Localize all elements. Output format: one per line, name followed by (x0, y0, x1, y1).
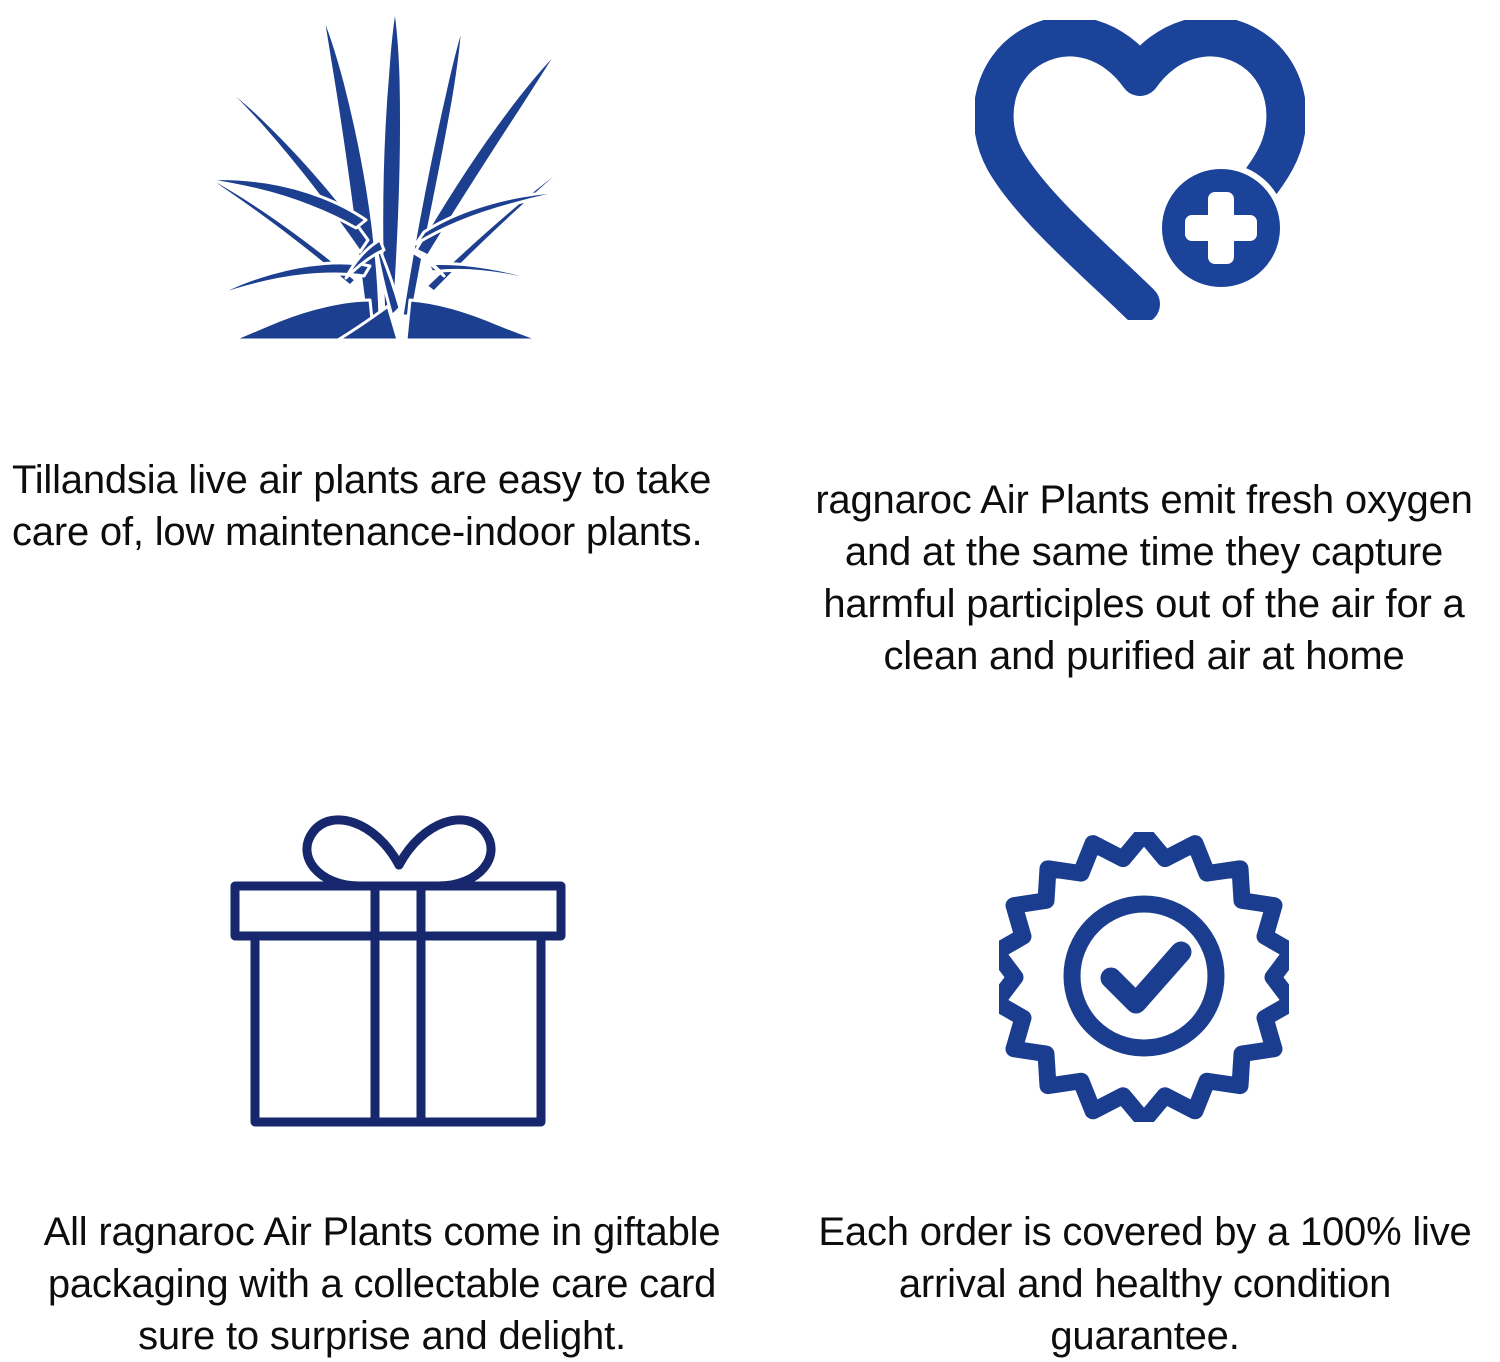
feature-caption-easy-care: Tillandsia live air plants are easy to t… (0, 440, 766, 558)
air-plant-icon (188, 0, 588, 340)
feature-caption-fresh-oxygen: ragnaroc Air Plants emit fresh oxygen an… (780, 460, 1500, 682)
feature-cell-live-arrival-guarantee: Each order is covered by a 100% live arr… (780, 690, 1500, 1362)
air-plant-icon-wrap (0, 0, 766, 440)
guarantee-seal-icon-wrap (780, 690, 1500, 1200)
feature-cell-giftable-packaging: All ragnaroc Air Plants come in giftable… (0, 690, 780, 1362)
gift-box-icon (223, 800, 573, 1130)
feature-cell-easy-care: Tillandsia live air plants are easy to t… (0, 0, 780, 690)
feature-grid: Tillandsia live air plants are easy to t… (0, 0, 1500, 1362)
heart-plus-icon (975, 20, 1305, 320)
feature-cell-fresh-oxygen: ragnaroc Air Plants emit fresh oxygen an… (780, 0, 1500, 690)
heart-plus-icon-wrap (780, 0, 1500, 460)
guarantee-seal-icon (999, 832, 1289, 1122)
feature-caption-giftable-packaging: All ragnaroc Air Plants come in giftable… (0, 1200, 780, 1362)
feature-caption-live-arrival-guarantee: Each order is covered by a 100% live arr… (780, 1200, 1500, 1362)
gift-box-icon-wrap (0, 690, 780, 1200)
